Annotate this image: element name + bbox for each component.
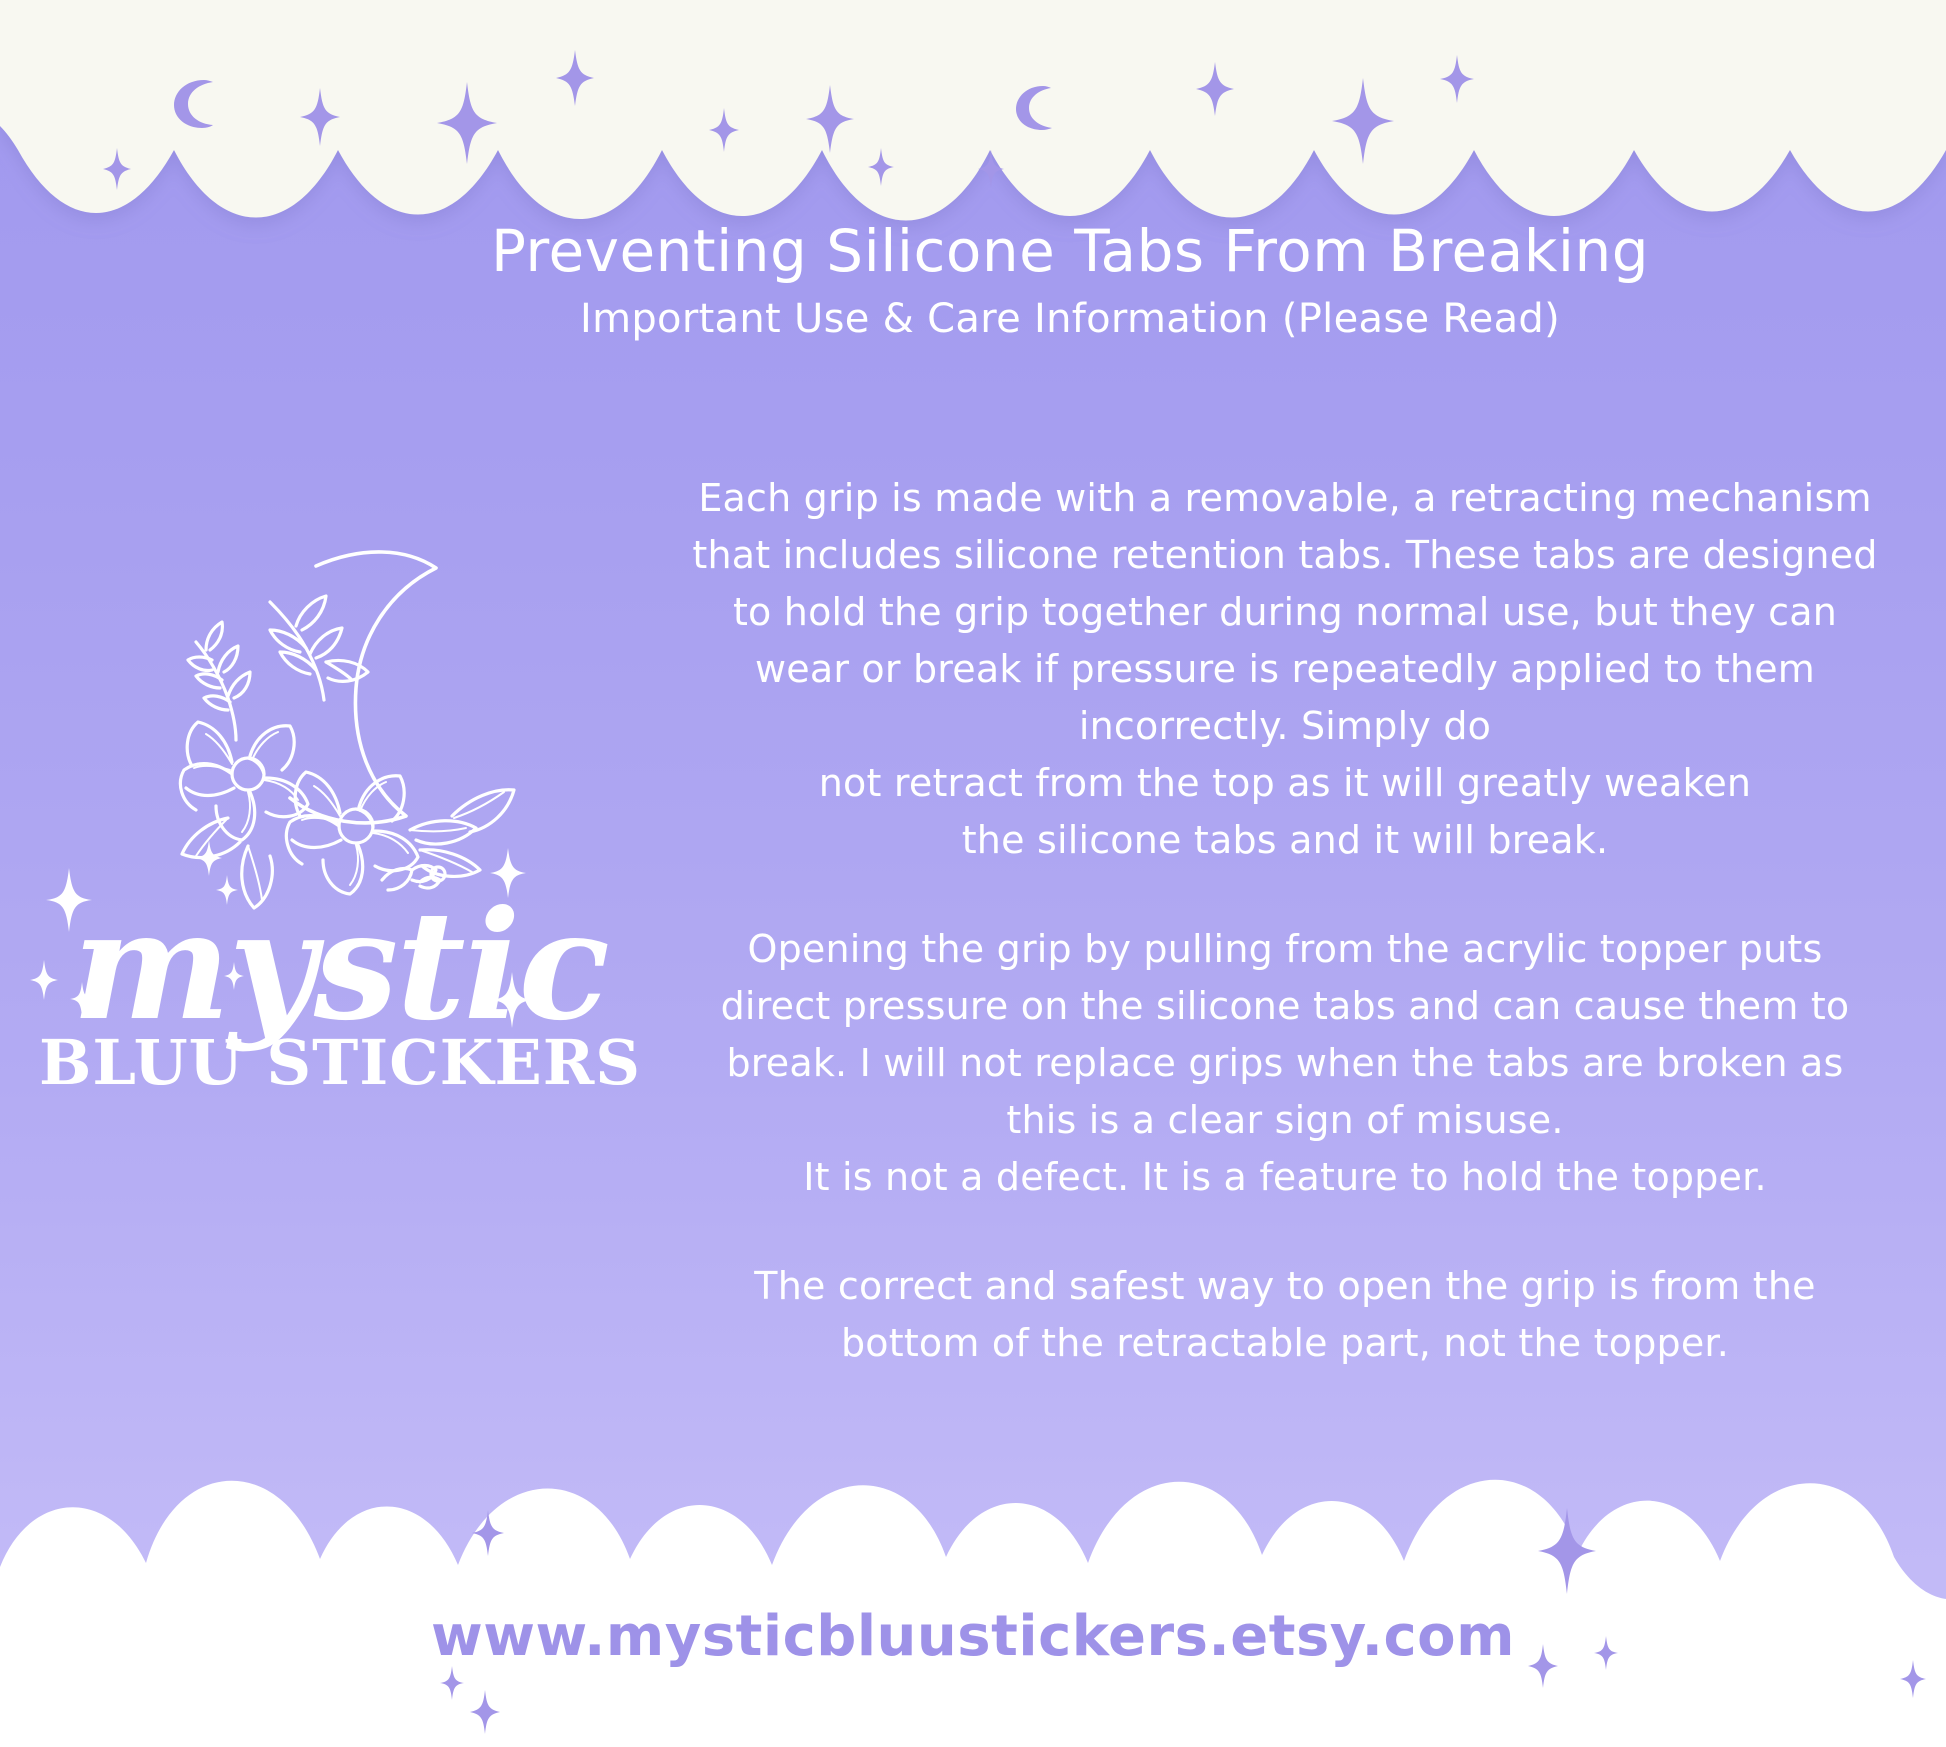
paragraph-3: The correct and safest way to open the g… xyxy=(640,1258,1930,1372)
paragraph-2: Opening the grip by pulling from the acr… xyxy=(640,921,1930,1206)
sparkle-icon xyxy=(806,85,854,153)
brand-name-secondary: BLUU STICKERS xyxy=(30,1032,650,1094)
paragraph-line: The correct and safest way to open the g… xyxy=(640,1258,1930,1315)
crescent-moon-icon xyxy=(170,78,216,130)
paragraph-line: bottom of the retractable part, not the … xyxy=(640,1315,1930,1372)
footer-url-text[interactable]: www.mysticbluustickers.etsy.com xyxy=(431,1604,1515,1669)
page-title: Preventing Silicone Tabs From Breaking xyxy=(480,218,1660,285)
paragraph-line: direct pressure on the silicone tabs and… xyxy=(640,978,1930,1035)
sparkle-icon xyxy=(556,50,594,106)
paragraph-line: It is not a defect. It is a feature to h… xyxy=(640,1149,1930,1206)
crescent-moon-floral-icon xyxy=(120,530,550,930)
sparkle-icon xyxy=(978,150,1004,188)
heading-group: Preventing Silicone Tabs From Breaking I… xyxy=(480,218,1660,343)
brand-wordmark: mystic BLUU STICKERS xyxy=(30,895,650,1094)
brand-logo: mystic BLUU STICKERS xyxy=(30,530,650,1200)
paragraph-1: Each grip is made with a removable, a re… xyxy=(640,470,1930,869)
paragraph-line: wear or break if pressure is repeatedly … xyxy=(640,641,1930,698)
sparkle-icon xyxy=(472,1510,504,1556)
poster-canvas: Preventing Silicone Tabs From Breaking I… xyxy=(0,0,1946,1747)
sparkle-icon xyxy=(300,88,340,146)
paragraph-line: not retract from the top as it will grea… xyxy=(640,755,1930,812)
paragraph-line: break. I will not replace grips when the… xyxy=(640,1035,1930,1092)
bottom-cloud-band xyxy=(0,1447,1946,1747)
sparkle-icon xyxy=(103,148,131,190)
sparkle-icon xyxy=(437,82,497,164)
crescent-moon-icon xyxy=(1012,84,1054,132)
brand-name-primary: mystic xyxy=(30,895,650,1038)
paragraph-line: this is a clear sign of misuse. xyxy=(640,1092,1930,1149)
sparkle-icon xyxy=(1196,62,1234,116)
sparkle-icon xyxy=(1440,55,1474,103)
sparkle-icon xyxy=(709,108,739,152)
body-copy: Each grip is made with a removable, a re… xyxy=(640,470,1930,1372)
paragraph-line: Opening the grip by pulling from the acr… xyxy=(640,921,1930,978)
sparkle-icon xyxy=(470,1690,500,1734)
sparkle-icon xyxy=(440,1666,464,1700)
paragraph-line: to hold the grip together during normal … xyxy=(640,584,1930,641)
page-subtitle: Important Use & Care Information (Please… xyxy=(480,295,1660,343)
sparkle-icon xyxy=(1538,1508,1596,1594)
top-cloud-band xyxy=(0,0,1946,250)
sparkle-icon xyxy=(868,148,894,186)
paragraph-line: the silicone tabs and it will break. xyxy=(640,812,1930,869)
footer-url[interactable]: www.mysticbluustickers.etsy.com xyxy=(0,1604,1946,1669)
sparkle-icon xyxy=(1332,78,1394,164)
paragraph-line: incorrectly. Simply do xyxy=(640,698,1930,755)
paragraph-line: Each grip is made with a removable, a re… xyxy=(640,470,1930,527)
paragraph-line: that includes silicone retention tabs. T… xyxy=(640,527,1930,584)
